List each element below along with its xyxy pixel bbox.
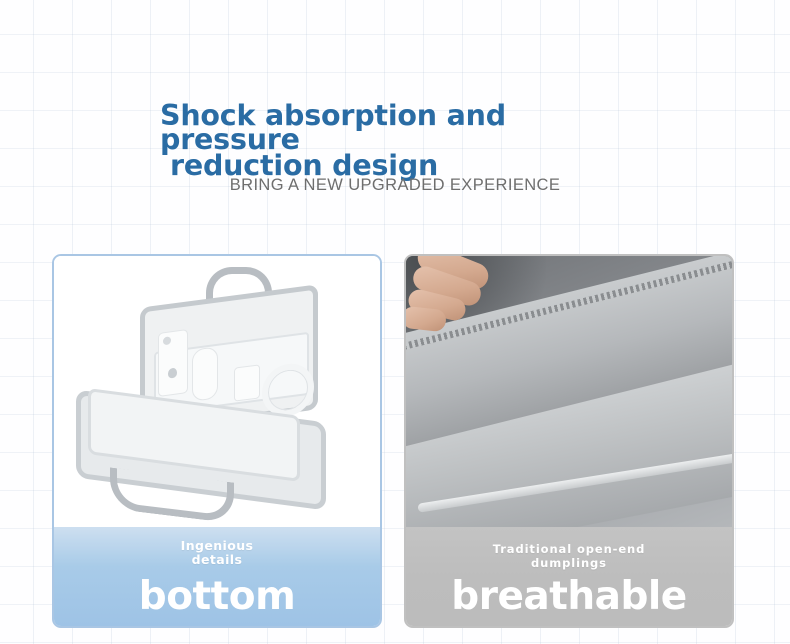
mouse-accessory-icon (192, 346, 218, 401)
phone-accessory-icon (158, 329, 188, 397)
phone-logo-icon (168, 367, 177, 378)
hand-illustration (412, 256, 508, 334)
card-caption: Traditional open-end dumplings (406, 542, 732, 570)
card-headline: breathable (406, 575, 732, 619)
product-photo-zipper-closeup (406, 256, 732, 527)
card-headline: bottom (54, 575, 380, 619)
laptop-bag-illustration (54, 256, 380, 527)
phone-camera-icon (163, 336, 171, 345)
card-caption: Ingenious details (54, 539, 380, 567)
page-title-line1: Shock absorption and pressure (160, 99, 506, 156)
page-title-line2: reduction design (160, 154, 630, 178)
product-photo-open-bag (54, 256, 380, 527)
page-subtitle: BRING A NEW UPGRADED EXPERIENCE (0, 176, 790, 195)
charger-accessory-icon (234, 364, 260, 401)
sleeve-illustration (406, 256, 732, 527)
promo-page: Shock absorption and pressurereduction d… (0, 0, 790, 644)
card-footer-ingenious-details: Ingenious details bottom (54, 527, 380, 626)
feature-card-breathable[interactable]: Traditional open-end dumplings breathabl… (404, 254, 734, 628)
card-footer-breathable: Traditional open-end dumplings breathabl… (406, 527, 732, 626)
page-title: Shock absorption and pressurereduction d… (160, 104, 630, 178)
feature-card-ingenious-details[interactable]: Ingenious details bottom (52, 254, 382, 628)
